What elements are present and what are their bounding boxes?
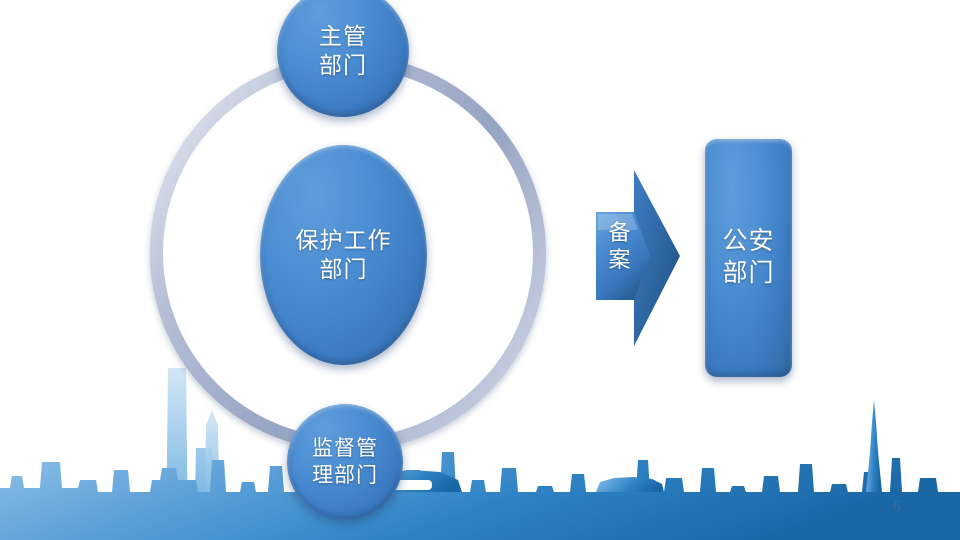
right-arrow-icon bbox=[588, 168, 692, 348]
page-number: 6 bbox=[893, 498, 901, 516]
cycle-node-top-line2: 部门 bbox=[319, 51, 367, 80]
target-node-line1: 公安 bbox=[722, 226, 774, 258]
connector-arrow[interactable]: 备 案 bbox=[588, 168, 692, 348]
target-node-public-security[interactable]: 公安 部门 bbox=[705, 139, 792, 377]
slide-canvas: 主管 部门 保护工作 部门 监督管 理部门 bbox=[0, 0, 960, 540]
cycle-node-bottom-line1: 监督管 bbox=[312, 435, 378, 462]
cycle-node-top-line1: 主管 bbox=[319, 22, 367, 51]
cycle-node-center-line1: 保护工作 bbox=[296, 226, 392, 255]
cycle-node-center[interactable]: 保护工作 部门 bbox=[260, 145, 427, 365]
target-node-line2: 部门 bbox=[722, 258, 774, 290]
cycle-node-bottom[interactable]: 监督管 理部门 bbox=[287, 404, 403, 520]
cycle-node-bottom-line2: 理部门 bbox=[312, 462, 378, 489]
cycle-node-center-line2: 部门 bbox=[296, 255, 392, 284]
